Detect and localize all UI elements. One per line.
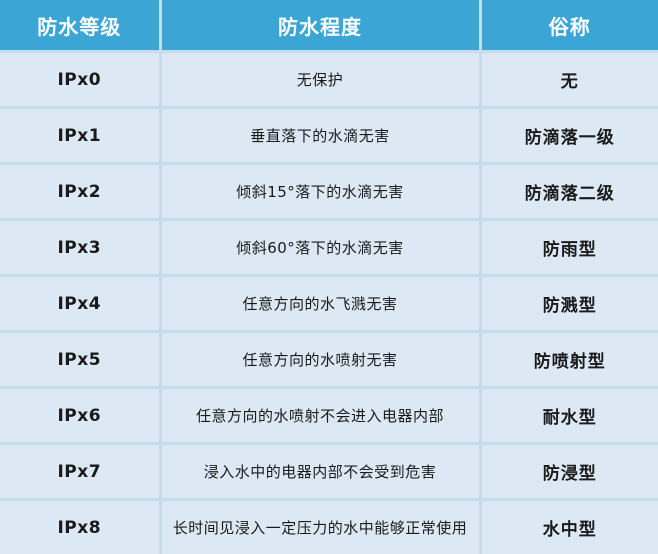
table-header-row: 防水等级 防水程度 俗称 bbox=[0, 0, 658, 52]
cell-waterproof-degree: 浸入水中的电器内部不会受到危害 bbox=[160, 444, 480, 500]
table-row: IPx6任意方向的水喷射不会进入电器内部耐水型 bbox=[0, 388, 658, 444]
column-header-degree: 防水程度 bbox=[160, 0, 480, 52]
cell-common-name: 水中型 bbox=[480, 500, 658, 554]
cell-waterproof-grade: IPx8 bbox=[0, 500, 160, 554]
cell-waterproof-grade: IPx3 bbox=[0, 220, 160, 276]
column-header-grade: 防水等级 bbox=[0, 0, 160, 52]
cell-waterproof-degree: 任意方向的水飞溅无害 bbox=[160, 276, 480, 332]
cell-waterproof-degree: 任意方向的水喷射不会进入电器内部 bbox=[160, 388, 480, 444]
cell-common-name: 无 bbox=[480, 52, 658, 108]
cell-waterproof-degree: 垂直落下的水滴无害 bbox=[160, 108, 480, 164]
cell-waterproof-grade: IPx0 bbox=[0, 52, 160, 108]
cell-waterproof-degree: 长时间见浸入一定压力的水中能够正常使用 bbox=[160, 500, 480, 554]
table-row: IPx1垂直落下的水滴无害防滴落一级 bbox=[0, 108, 658, 164]
table-row: IPx4任意方向的水飞溅无害防溅型 bbox=[0, 276, 658, 332]
cell-waterproof-degree: 倾斜15°落下的水滴无害 bbox=[160, 164, 480, 220]
cell-common-name: 耐水型 bbox=[480, 388, 658, 444]
cell-common-name: 防滴落一级 bbox=[480, 108, 658, 164]
cell-waterproof-degree: 无保护 bbox=[160, 52, 480, 108]
cell-common-name: 防雨型 bbox=[480, 220, 658, 276]
cell-waterproof-grade: IPx5 bbox=[0, 332, 160, 388]
cell-common-name: 防溅型 bbox=[480, 276, 658, 332]
table-header: 防水等级 防水程度 俗称 bbox=[0, 0, 658, 52]
table-row: IPx3倾斜60°落下的水滴无害防雨型 bbox=[0, 220, 658, 276]
cell-waterproof-grade: IPx7 bbox=[0, 444, 160, 500]
ip-rating-table: 防水等级 防水程度 俗称 IPx0无保护无IPx1垂直落下的水滴无害防滴落一级I… bbox=[0, 0, 658, 554]
table-row: IPx2倾斜15°落下的水滴无害防滴落二级 bbox=[0, 164, 658, 220]
table-body: IPx0无保护无IPx1垂直落下的水滴无害防滴落一级IPx2倾斜15°落下的水滴… bbox=[0, 52, 658, 554]
cell-waterproof-grade: IPx4 bbox=[0, 276, 160, 332]
cell-common-name: 防滴落二级 bbox=[480, 164, 658, 220]
table-row: IPx0无保护无 bbox=[0, 52, 658, 108]
table-row: IPx7浸入水中的电器内部不会受到危害防浸型 bbox=[0, 444, 658, 500]
cell-common-name: 防喷射型 bbox=[480, 332, 658, 388]
cell-waterproof-degree: 任意方向的水喷射无害 bbox=[160, 332, 480, 388]
cell-waterproof-grade: IPx1 bbox=[0, 108, 160, 164]
column-header-name: 俗称 bbox=[480, 0, 658, 52]
cell-waterproof-grade: IPx2 bbox=[0, 164, 160, 220]
cell-waterproof-grade: IPx6 bbox=[0, 388, 160, 444]
cell-waterproof-degree: 倾斜60°落下的水滴无害 bbox=[160, 220, 480, 276]
table-row: IPx5任意方向的水喷射无害防喷射型 bbox=[0, 332, 658, 388]
cell-common-name: 防浸型 bbox=[480, 444, 658, 500]
table-row: IPx8长时间见浸入一定压力的水中能够正常使用水中型 bbox=[0, 500, 658, 554]
